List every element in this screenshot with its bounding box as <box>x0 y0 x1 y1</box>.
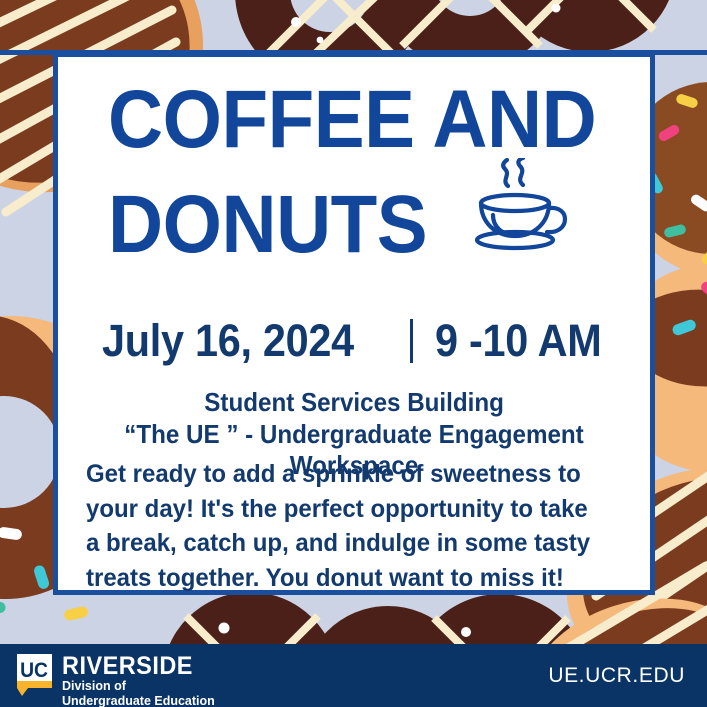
uc-logo-icon: UC <box>16 653 53 697</box>
ucr-logo[interactable]: UC RIVERSIDE Division of Undergraduate E… <box>16 653 215 707</box>
datetime-divider <box>410 319 413 363</box>
event-date: July 16, 2024 <box>102 315 354 367</box>
division-line-1: Division of <box>62 679 215 694</box>
event-title-line-2: DONUTS <box>108 186 427 263</box>
division-text: Division of Undergraduate Education <box>62 679 215 707</box>
coffee-cup-icon <box>465 158 569 259</box>
ucr-logo-text: RIVERSIDE Division of Undergraduate Educ… <box>62 653 215 707</box>
footer-bar: UC RIVERSIDE Division of Undergraduate E… <box>0 644 707 707</box>
content-card: COFFEE AND DONUTS July 16, 202 <box>53 52 655 595</box>
division-line-2: Undergraduate Education <box>62 694 215 707</box>
website-url[interactable]: UE.UCR.EDU <box>548 664 685 688</box>
title-block: COFFEE AND DONUTS <box>108 81 630 263</box>
event-title-line-1: COFFEE AND <box>108 81 593 158</box>
event-datetime: July 16, 2024 9 -10 AM <box>102 315 630 367</box>
poster-canvas: COFFEE AND DONUTS July 16, 202 <box>0 0 707 707</box>
svg-text:UC: UC <box>20 659 48 682</box>
event-description: Get ready to add a sprinkle of sweetness… <box>86 457 599 595</box>
riverside-wordmark: RIVERSIDE <box>62 654 206 679</box>
event-time: 9 -10 AM <box>435 315 602 367</box>
venue-line-1: Student Services Building <box>204 387 504 419</box>
